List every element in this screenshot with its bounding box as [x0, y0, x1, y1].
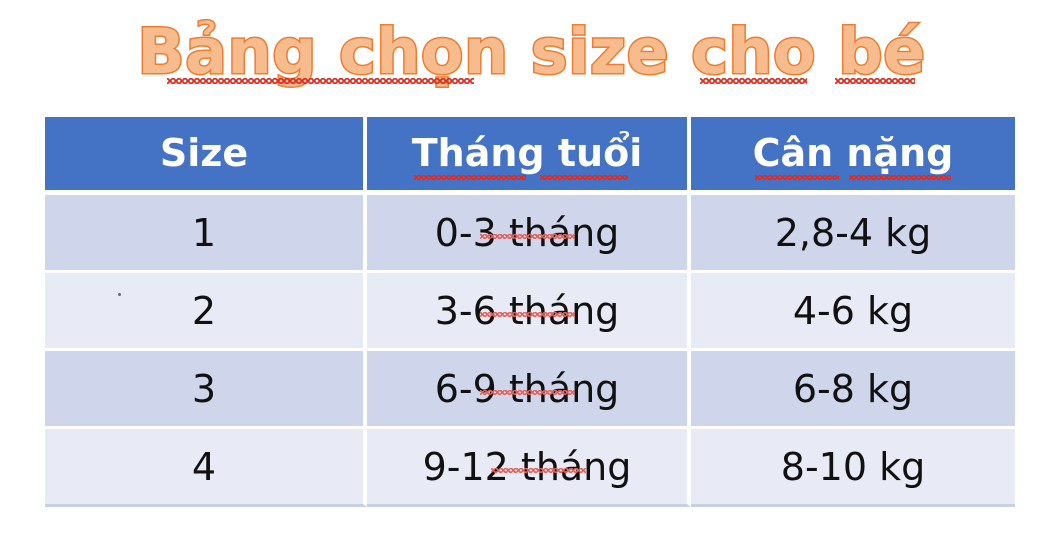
column-header-weight-label: Cân nặng — [753, 131, 954, 175]
spellcheck-squiggle-tuoi — [540, 175, 628, 180]
cell-size: 2 — [45, 273, 367, 351]
spellcheck-squiggle-thang-row4 — [491, 468, 586, 473]
table-body: 1 0-3 tháng 2,8-4 kg 2 3-6 tháng 4-6 kg … — [45, 195, 1015, 507]
cell-months-label: 0-3 tháng — [435, 211, 620, 255]
cell-weight: 6-8 kg — [691, 351, 1015, 429]
spellcheck-squiggle-thang-row1 — [480, 234, 575, 239]
spellcheck-squiggle-title-2 — [700, 78, 807, 84]
cell-months: 9-12 tháng — [367, 429, 691, 507]
spellcheck-squiggle-thang-row2 — [480, 312, 575, 317]
spellcheck-squiggle-thang — [414, 175, 526, 180]
spellcheck-squiggle-nang — [849, 175, 951, 180]
table-header-row: Size Tháng tuổi Cân nặng — [45, 117, 1015, 195]
cell-size: 4 — [45, 429, 367, 507]
cell-size: 1 — [45, 195, 367, 273]
cell-months-label: 6-9 tháng — [435, 367, 620, 411]
table-row: 3 6-9 tháng 6-8 kg — [45, 351, 1015, 429]
cell-weight: 8-10 kg — [691, 429, 1015, 507]
cell-weight: 2,8-4 kg — [691, 195, 1015, 273]
spellcheck-squiggle-can — [755, 175, 839, 180]
cell-size: 3 — [45, 351, 367, 429]
table-row: 2 3-6 tháng 4-6 kg — [45, 273, 1015, 351]
cell-months: 3-6 tháng — [367, 273, 691, 351]
column-header-months-label: Tháng tuổi — [412, 131, 642, 175]
column-header-weight-wrap: Cân nặng — [753, 131, 954, 177]
spellcheck-squiggle-thang-row3 — [480, 390, 575, 395]
page-title: Bảng chọn size cho bé — [137, 19, 925, 84]
cell-months-label: 9-12 tháng — [423, 445, 632, 489]
cell-months-wrap: 0-3 tháng — [435, 211, 620, 255]
column-header-size-label: Size — [160, 131, 248, 177]
spellcheck-squiggle-title-3 — [835, 78, 915, 84]
cell-months-label: 3-6 tháng — [435, 289, 620, 333]
stray-mark — [118, 293, 121, 296]
column-header-weight: Cân nặng — [691, 117, 1015, 195]
cell-months-wrap: 3-6 tháng — [435, 289, 620, 333]
table-row: 4 9-12 tháng 8-10 kg — [45, 429, 1015, 507]
column-header-months-wrap: Tháng tuổi — [412, 131, 642, 177]
cell-months-wrap: 9-12 tháng — [423, 445, 632, 489]
cell-weight: 4-6 kg — [691, 273, 1015, 351]
title-banner: Bảng chọn size cho bé — [0, 4, 1063, 100]
cell-months: 6-9 tháng — [367, 351, 691, 429]
column-header-months: Tháng tuổi — [367, 117, 691, 195]
size-chart-table: Size Tháng tuổi Cân nặng 1 — [45, 117, 1015, 507]
cell-months: 0-3 tháng — [367, 195, 691, 273]
column-header-size: Size — [45, 117, 367, 195]
table-row: 1 0-3 tháng 2,8-4 kg — [45, 195, 1015, 273]
cell-months-wrap: 6-9 tháng — [435, 367, 620, 411]
spellcheck-squiggle-title-1 — [167, 78, 474, 84]
table-header: Size Tháng tuổi Cân nặng — [45, 117, 1015, 195]
